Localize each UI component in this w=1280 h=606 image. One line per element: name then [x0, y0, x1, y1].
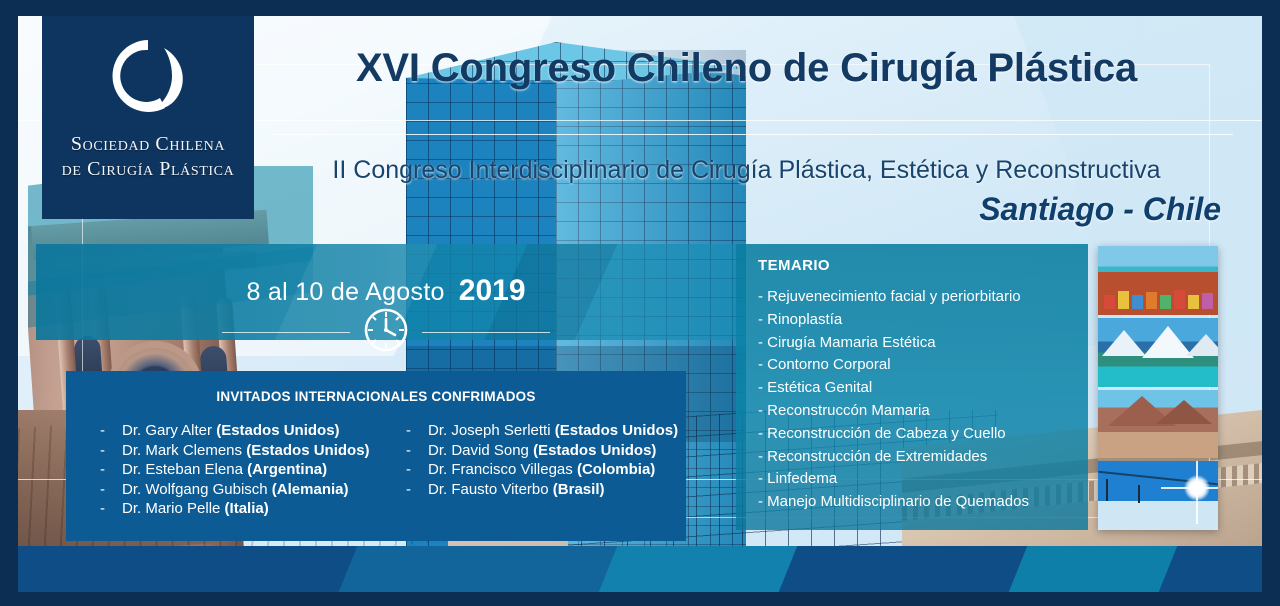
- speaker-country: (Brasil): [553, 481, 605, 498]
- speaker-country: (Colombia): [577, 461, 655, 478]
- speaker-country: (Alemania): [272, 481, 349, 498]
- poster-subtitle: II Congreso Interdisciplinario de Cirugí…: [254, 156, 1239, 185]
- temario-item: - Rinoplastía: [758, 309, 1078, 332]
- date-text: 8 al 10 de Agosto: [246, 278, 444, 306]
- photo-valparaiso-houses: [1098, 246, 1218, 315]
- speaker-name: Dr. Gary Alter: [122, 422, 216, 439]
- speaker-list-item: -Dr. Wolfgang Gubisch (Alemania): [100, 480, 380, 500]
- speakers-column-left: -Dr. Gary Alter (Estados Unidos) -Dr. Ma…: [66, 421, 380, 519]
- bullet-dash: -: [406, 480, 416, 500]
- photo-atacama-volcano: [1098, 390, 1218, 459]
- photo-torres-del-paine: [1098, 318, 1218, 387]
- poster-inner-canvas: Sociedad Chilena de Cirugía Plástica XVI…: [18, 16, 1262, 592]
- sun-flare-icon: [1184, 475, 1210, 501]
- speaker-name: Dr. Mark Clemens: [122, 442, 246, 459]
- temario-title: TEMARIO: [758, 257, 830, 274]
- speaker-country: (Estados Unidos): [555, 422, 678, 439]
- bullet-dash: -: [406, 441, 416, 461]
- speaker-country: (Estados Unidos): [533, 442, 656, 459]
- bullet-dash: -: [100, 499, 110, 519]
- chile-photo-strip: [1098, 246, 1218, 530]
- speaker-name: Dr. Mario Pelle: [122, 500, 225, 517]
- bullet-dash: -: [100, 460, 110, 480]
- bullet-dash: -: [406, 460, 416, 480]
- speaker-list-item: -Dr. Francisco Villegas (Colombia): [406, 460, 686, 480]
- clock-icon: [364, 308, 408, 357]
- speaker-country: (Italia): [225, 500, 269, 517]
- international-speakers-panel: INVITADOS INTERNACIONALES CONFRIMADOS -D…: [66, 371, 686, 541]
- bottom-blue-bar: [18, 546, 1262, 592]
- temario-item: - Rejuvenecimiento facial y periorbitari…: [758, 286, 1078, 309]
- temario-item: - Estética Genital: [758, 377, 1078, 400]
- temario-item: - Reconstruccón Mamaria: [758, 400, 1078, 423]
- title-separator: [273, 134, 1233, 135]
- logo-line-2: de Cirugía Plástica: [62, 157, 235, 182]
- poster-title: XVI Congreso Chileno de Cirugía Plástica: [254, 46, 1239, 91]
- speaker-list-item: -Dr. Fausto Viterbo (Brasil): [406, 480, 686, 500]
- logo-line-1: Sociedad Chilena: [62, 132, 235, 157]
- temario-item: - Linfedema: [758, 468, 1078, 491]
- speaker-name: Dr. David Song: [428, 442, 533, 459]
- circle-swoosh-icon: [102, 32, 194, 124]
- temario-list: - Rejuvenecimiento facial y periorbitari…: [758, 286, 1078, 514]
- speakers-column-right: -Dr. Joseph Serletti (Estados Unidos) -D…: [380, 421, 686, 519]
- date-band: 8 al 10 de Agosto2019: [36, 244, 736, 340]
- clock-rule-left: [222, 332, 350, 333]
- temario-item: - Manejo Multidisciplinario de Quemados: [758, 491, 1078, 514]
- bullet-dash: -: [100, 441, 110, 461]
- speakers-panel-title: INVITADOS INTERNACIONALES CONFRIMADOS: [66, 389, 686, 404]
- photo-ski-lift: [1098, 461, 1218, 530]
- speaker-name: Dr. Francisco Villegas: [428, 461, 577, 478]
- bullet-dash: -: [406, 421, 416, 441]
- speaker-list-item: -Dr. Gary Alter (Estados Unidos): [100, 421, 380, 441]
- speaker-list-item: -Dr. Mark Clemens (Estados Unidos): [100, 441, 380, 461]
- bullet-dash: -: [100, 480, 110, 500]
- temario-panel: TEMARIO - Rejuvenecimiento facial y peri…: [736, 244, 1088, 530]
- speaker-list-item: -Dr. Mario Pelle (Italia): [100, 499, 380, 519]
- bullet-dash: -: [100, 421, 110, 441]
- speaker-list-item: -Dr. David Song (Estados Unidos): [406, 441, 686, 461]
- temario-item: - Cirugía Mamaria Estética: [758, 332, 1078, 355]
- speaker-name: Dr. Esteban Elena: [122, 461, 247, 478]
- date-year: 2019: [459, 274, 526, 307]
- speaker-name: Dr. Joseph Serletti: [428, 422, 555, 439]
- speaker-country: (Estados Unidos): [216, 422, 339, 439]
- temario-item: - Contorno Corporal: [758, 354, 1078, 377]
- speaker-country: (Argentina): [247, 461, 327, 478]
- temario-item: - Reconstrucción de Cabeza y Cuello: [758, 423, 1078, 446]
- conference-poster: Sociedad Chilena de Cirugía Plástica XVI…: [0, 0, 1280, 606]
- clock-rule-right: [422, 332, 550, 333]
- temario-item: - Reconstrucción de Extremidades: [758, 446, 1078, 469]
- speaker-name: Dr. Wolfgang Gubisch: [122, 481, 272, 498]
- poster-city: Santiago - Chile: [254, 191, 1239, 228]
- speaker-name: Dr. Fausto Viterbo: [428, 481, 553, 498]
- society-logo: Sociedad Chilena de Cirugía Plástica: [42, 16, 254, 219]
- speaker-list-item: -Dr. Joseph Serletti (Estados Unidos): [406, 421, 686, 441]
- speaker-country: (Estados Unidos): [246, 442, 369, 459]
- speaker-list-item: -Dr. Esteban Elena (Argentina): [100, 460, 380, 480]
